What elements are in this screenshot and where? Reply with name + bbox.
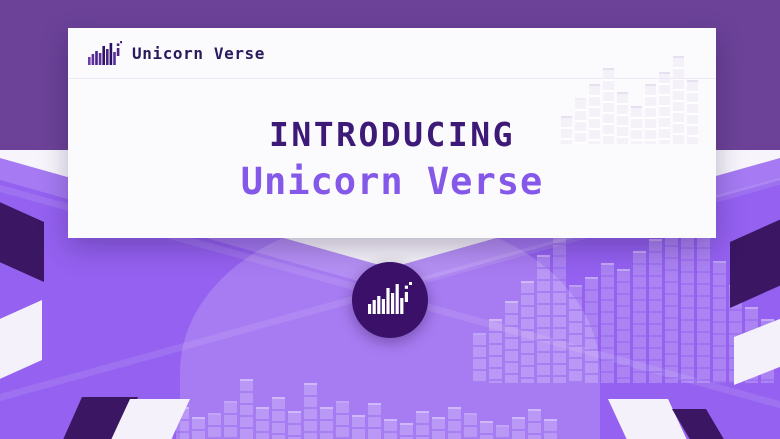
card-header: Unicorn Verse: [68, 28, 716, 79]
bar: [384, 419, 397, 439]
bar: [633, 251, 646, 383]
bar: [256, 407, 269, 439]
card-body: INTRODUCING Unicorn Verse: [68, 79, 716, 238]
bar: [665, 221, 678, 383]
bar: [601, 263, 614, 383]
bar: [448, 407, 461, 439]
announcement-card: Unicorn Verse INTRODUCING Unicorn Verse: [68, 28, 716, 238]
bar: [521, 281, 534, 383]
bar: [649, 239, 662, 383]
bar: [585, 277, 598, 383]
brand-lockup: Unicorn Verse: [88, 41, 265, 65]
bar: [617, 269, 630, 383]
bar: [352, 415, 365, 439]
bar: [544, 419, 557, 439]
bar: [208, 413, 221, 439]
brand-badge: [352, 262, 428, 338]
bar: [473, 333, 486, 383]
bar: [713, 261, 726, 383]
bar: [400, 423, 413, 439]
bar: [537, 255, 550, 383]
bar: [553, 231, 566, 383]
bar: [240, 379, 253, 439]
bar-chart-ascending-icon: [368, 282, 412, 318]
bar: [480, 421, 493, 439]
brand-name: Unicorn Verse: [132, 44, 265, 63]
bar: [224, 401, 237, 439]
poster-canvas: Unicorn Verse INTRODUCING Unicorn Verse: [0, 0, 780, 439]
bar: [569, 285, 582, 383]
bar: [272, 397, 285, 439]
bar: [304, 383, 317, 439]
bar: [416, 411, 429, 439]
bar: [489, 319, 502, 383]
bar: [368, 403, 381, 439]
eyebrow-text: INTRODUCING: [269, 115, 515, 154]
bar: [320, 407, 333, 439]
bar: [464, 413, 477, 439]
bar: [512, 417, 525, 439]
bar: [192, 417, 205, 439]
bar-chart-ascending-icon: [88, 41, 122, 65]
bar: [288, 411, 301, 439]
bar: [336, 401, 349, 439]
bar: [528, 409, 541, 439]
bar: [496, 425, 509, 439]
headline-text: Unicorn Verse: [241, 160, 544, 203]
bar: [432, 417, 445, 439]
bar: [505, 301, 518, 383]
